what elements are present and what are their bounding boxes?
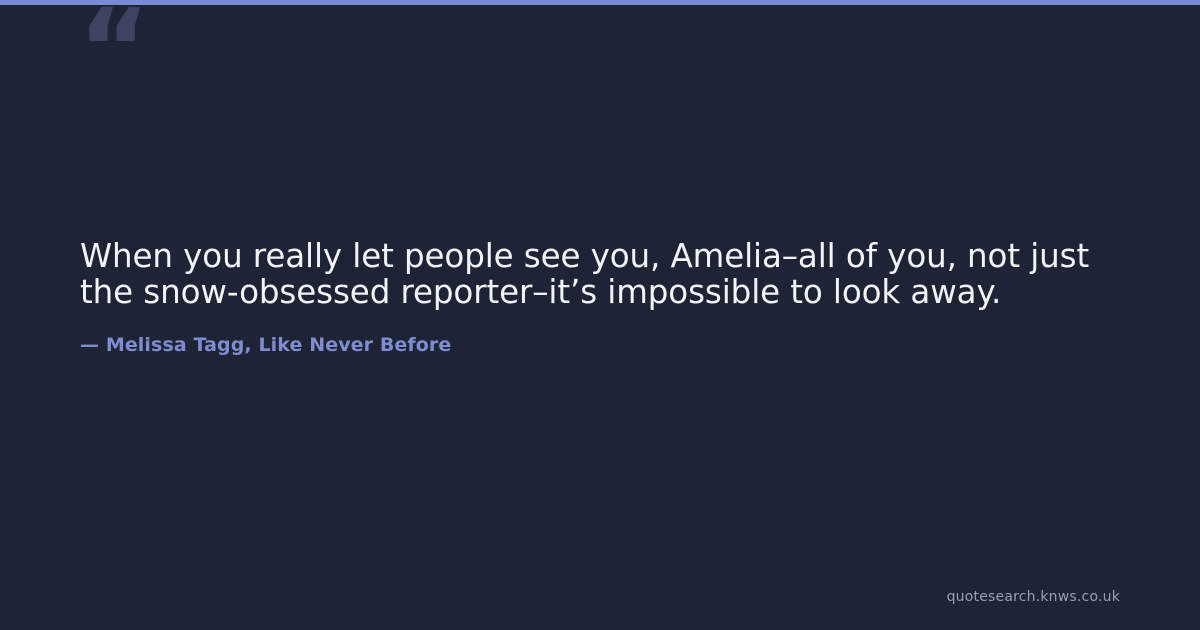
quote-block: When you really let people see you, Amel… (80, 238, 1120, 357)
top-accent-bar (0, 0, 1200, 5)
quote-attribution: — Melissa Tagg, Like Never Before (80, 310, 1120, 357)
quote-text: When you really let people see you, Amel… (80, 238, 1120, 310)
opening-quote-icon: “ (78, 0, 148, 104)
site-watermark: quotesearch.knws.co.uk (947, 588, 1120, 606)
quote-card: “ When you really let people see you, Am… (0, 0, 1200, 630)
